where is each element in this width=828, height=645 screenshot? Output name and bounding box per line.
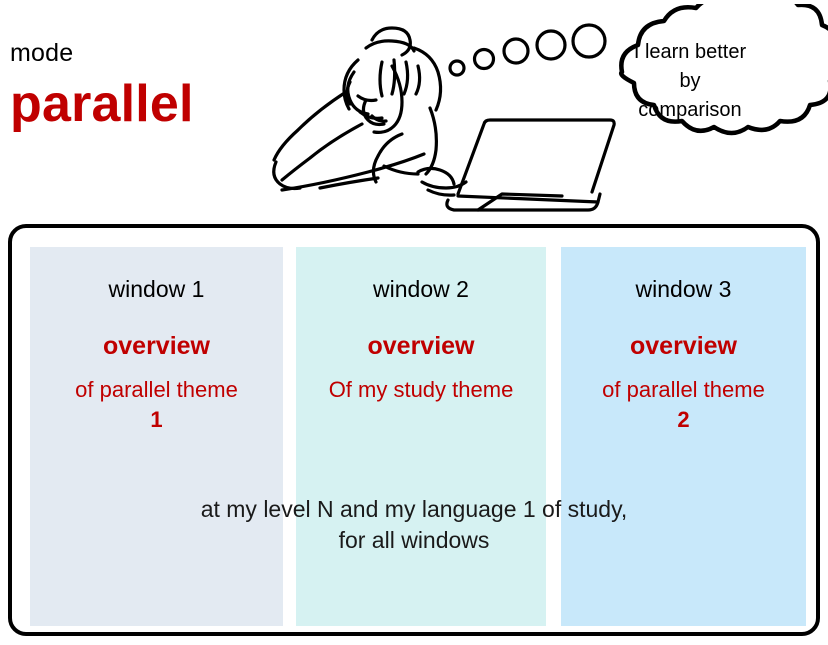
window-2-sub-text: Of my study theme (329, 377, 514, 402)
thought-bubble-line-3: comparison (586, 96, 794, 125)
window-3-subtitle: of parallel theme 2 (561, 375, 806, 435)
window-3-overview: overview (561, 331, 806, 361)
window-2-subtitle: Of my study theme (296, 375, 546, 405)
window-1-overview: overview (30, 331, 283, 361)
window-2-title: window 2 (296, 275, 546, 303)
window-3-sub-text: of parallel theme (602, 377, 765, 402)
mode-header: mode parallel (10, 38, 270, 134)
frame-caption-line-2: for all windows (42, 525, 786, 556)
thought-bubble-text: I learn better by comparison (586, 38, 794, 125)
window-3-title: window 3 (561, 275, 806, 303)
window-1-sub-text: of parallel theme (75, 377, 238, 402)
window-panel-1[interactable]: window 1 overview of parallel theme 1 (30, 247, 283, 626)
frame-caption: at my level N and my language 1 of study… (42, 494, 786, 556)
thought-dot-3 (504, 39, 528, 63)
window-1-subtitle: of parallel theme 1 (30, 375, 283, 435)
window-2-overview: overview (296, 331, 546, 361)
mode-label: mode (10, 38, 270, 68)
windows-frame: window 1 overview of parallel theme 1 wi… (8, 224, 820, 636)
mode-value: parallel (10, 74, 270, 134)
window-1-title: window 1 (30, 275, 283, 303)
thought-dot-4 (537, 31, 565, 59)
thought-dot-1 (450, 61, 464, 75)
window-3-sub-value: 2 (677, 407, 689, 432)
thought-bubble-line-1: I learn better (586, 38, 794, 67)
thought-bubble-line-2: by (586, 67, 794, 96)
window-panel-3[interactable]: window 3 overview of parallel theme 2 (561, 247, 806, 626)
frame-caption-line-1: at my level N and my language 1 of study… (42, 494, 786, 525)
window-1-sub-value: 1 (150, 407, 162, 432)
window-panel-2[interactable]: window 2 overview Of my study theme (296, 247, 546, 626)
thought-dot-2 (475, 50, 494, 69)
